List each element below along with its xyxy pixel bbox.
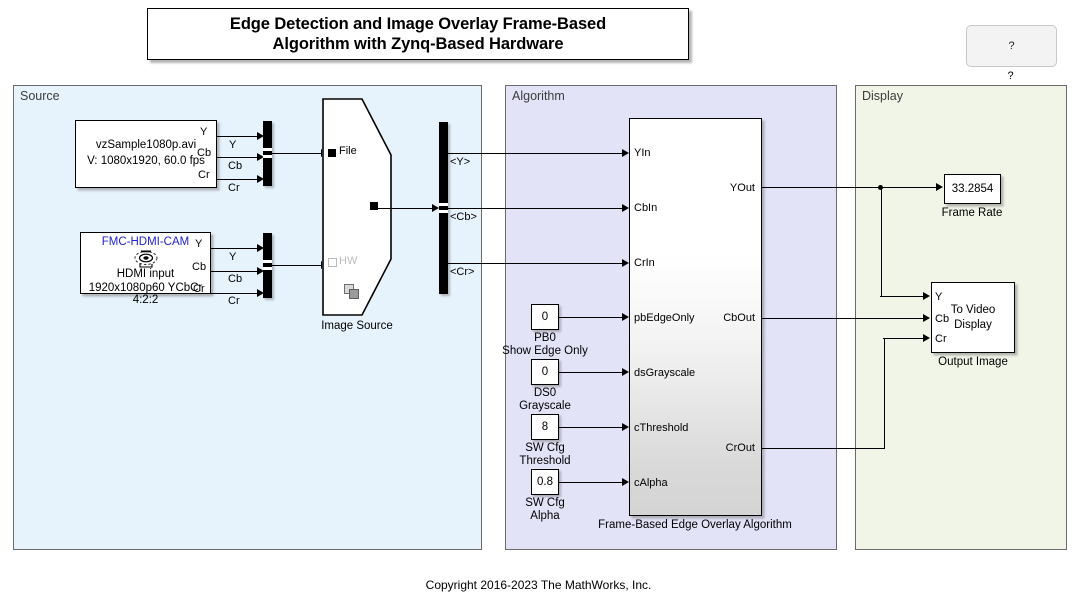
constant-label-threshold-line2: Threshold bbox=[495, 455, 595, 468]
help-button-caption: ? bbox=[966, 70, 1055, 82]
wire-crout-riser bbox=[884, 338, 885, 449]
signal-label-hdmi-y: Y bbox=[229, 251, 236, 263]
arrow-ds0-to-algo bbox=[622, 368, 629, 376]
constant-label-alpha-line1: SW Cfg bbox=[495, 497, 595, 510]
arrow-alpha-to-algo bbox=[622, 478, 629, 486]
title-line-2: Algorithm with Zynq-Based Hardware bbox=[273, 35, 564, 53]
algorithm-block-label: Frame-Based Edge Overlay Algorithm bbox=[595, 519, 795, 532]
arrow-cbout-to-videodisplay-cb bbox=[923, 314, 930, 322]
wire-threshold-to-algo bbox=[559, 427, 625, 428]
simulink-canvas: Edge Detection and Image Overlay Frame-B… bbox=[0, 0, 1077, 606]
algo-input-label-calpha: cAlpha bbox=[634, 477, 668, 489]
wire-bus-cr-to-algo bbox=[448, 263, 625, 264]
frame-rate-display-block[interactable]: 33.2854 bbox=[944, 174, 1001, 204]
wire-bushdmi-to-imagesource bbox=[272, 265, 324, 266]
arrow-pb0-to-algo bbox=[622, 313, 629, 321]
constant-value-pb0: 0 bbox=[542, 311, 548, 323]
wire-pb0-to-algo bbox=[559, 317, 625, 318]
arrow-yout-to-framerate bbox=[936, 183, 943, 191]
image-source-output-port-marker bbox=[370, 202, 378, 210]
algo-input-label-yin: YIn bbox=[634, 147, 651, 159]
to-video-display-label: Output Image bbox=[923, 356, 1023, 369]
constant-value-ds0: 0 bbox=[542, 366, 548, 378]
signal-label-bus-cr: <Cr> bbox=[450, 266, 474, 278]
frame-rate-label: Frame Rate bbox=[922, 207, 1022, 220]
constant-label-threshold-line1: SW Cfg bbox=[495, 442, 595, 455]
file-port-label-cb: Cb bbox=[197, 147, 211, 159]
variant-badge-icon bbox=[344, 284, 358, 298]
algo-input-label-cthreshold: cThreshold bbox=[634, 422, 688, 434]
title-line-1: Edge Detection and Image Overlay Frame-B… bbox=[230, 15, 606, 33]
algo-input-label-dsgrayscale: dsGrayscale bbox=[634, 367, 695, 379]
wire-file-cr bbox=[217, 179, 260, 180]
wire-bus-cb-to-algo bbox=[448, 208, 625, 209]
video-file-source-text: vzSample1080p.avi V: 1080x1920, 60.0 fps bbox=[76, 121, 216, 187]
image-source-hw-label: HW bbox=[339, 255, 357, 267]
constant-label-pb0-line1: PB0 bbox=[495, 332, 595, 345]
wire-yout-branch-down bbox=[881, 187, 882, 296]
wire-imagesource-to-busselector bbox=[378, 208, 436, 209]
wire-hdmi-y bbox=[211, 248, 260, 249]
wire-crout-run bbox=[762, 448, 884, 449]
hdmi-port-label-cr: Cr bbox=[193, 283, 205, 295]
image-source-hw-port-marker bbox=[328, 258, 337, 267]
help-button-label: ? bbox=[1008, 40, 1014, 52]
arrow-crout-to-videodisplay-cr bbox=[923, 334, 930, 342]
wire-hdmi-cr bbox=[211, 293, 260, 294]
signal-label-file-cb: Cb bbox=[228, 160, 242, 172]
to-video-display-line1: To Video bbox=[951, 303, 996, 318]
page-title: Edge Detection and Image Overlay Frame-B… bbox=[230, 14, 606, 55]
arrow-bus-cb-to-algo bbox=[622, 204, 629, 212]
to-video-display-text: To Video Display bbox=[951, 303, 996, 333]
image-source-block[interactable]: File HW bbox=[322, 98, 392, 316]
constant-block-alpha[interactable]: 0.8 bbox=[531, 469, 559, 495]
copyright-text: Copyright 2016-2023 The MathWorks, Inc. bbox=[0, 578, 1077, 592]
constant-label-alpha-line2: Alpha bbox=[495, 510, 595, 523]
arrow-threshold-to-algo bbox=[622, 423, 629, 431]
hdmi-port-label-y: Y bbox=[195, 238, 202, 250]
algo-output-label-cbout: CbOut bbox=[700, 312, 755, 324]
wire-alpha-to-algo bbox=[559, 482, 625, 483]
constant-label-pb0-line2: Show Edge Only bbox=[495, 345, 595, 358]
wire-file-cb bbox=[217, 157, 260, 158]
model-title-annotation: Edge Detection and Image Overlay Frame-B… bbox=[147, 8, 689, 60]
hdmi-block-subtitle: HDMI input bbox=[81, 268, 210, 280]
wire-yout-to-framerate bbox=[762, 187, 941, 188]
bus-creator-file[interactable] bbox=[263, 121, 272, 186]
constant-value-threshold: 8 bbox=[542, 421, 548, 433]
signal-label-bus-y: <Y> bbox=[450, 156, 470, 168]
constant-label-ds0-line1: DS0 bbox=[495, 387, 595, 400]
algo-output-label-yout: YOut bbox=[700, 182, 755, 194]
videodisplay-port-label-cb: Cb bbox=[935, 313, 949, 325]
hdmi-block-title: FMC-HDMI-CAM bbox=[81, 236, 210, 248]
to-video-display-line2: Display bbox=[951, 318, 996, 333]
video-file-source-block[interactable]: vzSample1080p.avi V: 1080x1920, 60.0 fps bbox=[75, 120, 217, 188]
arrow-imagesource-to-busselector bbox=[432, 204, 439, 212]
arrow-bus-cr-to-algo bbox=[622, 259, 629, 267]
algo-input-label-cbin: CbIn bbox=[634, 202, 657, 214]
file-port-label-cr: Cr bbox=[198, 169, 210, 181]
wire-ds0-to-algo bbox=[559, 372, 625, 373]
algo-output-label-crout: CrOut bbox=[700, 442, 755, 454]
area-label-algorithm: Algorithm bbox=[512, 89, 565, 103]
wire-cbout-to-videodisplay-cb bbox=[762, 318, 925, 319]
constant-value-alpha: 0.8 bbox=[537, 476, 553, 488]
videodisplay-port-label-y: Y bbox=[935, 291, 942, 303]
file-port-label-y: Y bbox=[200, 126, 207, 138]
constant-block-pb0[interactable]: 0 bbox=[531, 304, 559, 330]
signal-label-file-y: Y bbox=[229, 139, 236, 151]
wire-busfile-to-imagesource bbox=[272, 153, 324, 154]
bus-creator-hdmi[interactable] bbox=[263, 233, 272, 298]
wire-crout-to-videodisplay-cr bbox=[883, 338, 925, 339]
constant-block-threshold[interactable]: 8 bbox=[531, 414, 559, 440]
wire-file-y bbox=[217, 136, 260, 137]
wire-bus-y-to-algo bbox=[448, 153, 625, 154]
constant-label-ds0-line2: Grayscale bbox=[495, 400, 595, 413]
hdmi-block-format: 1920x1080p60 YCbCr 4:2:2 bbox=[81, 282, 210, 306]
image-source-file-port-marker bbox=[328, 149, 336, 157]
arrow-yout-to-videodisplay-y bbox=[923, 292, 930, 300]
hdmi-port-label-cb: Cb bbox=[192, 261, 206, 273]
signal-label-hdmi-cb: Cb bbox=[228, 273, 242, 285]
image-source-file-label: File bbox=[339, 145, 357, 157]
signal-label-hdmi-cr: Cr bbox=[228, 295, 240, 307]
signal-label-bus-cb: <Cb> bbox=[450, 211, 477, 223]
constant-block-ds0[interactable]: 0 bbox=[531, 359, 559, 385]
image-source-label: Image Source bbox=[282, 320, 432, 333]
arrow-bus-y-to-algo bbox=[622, 149, 629, 157]
video-file-name: vzSample1080p.avi bbox=[96, 138, 196, 154]
wire-yout-to-videodisplay-y bbox=[880, 296, 925, 297]
algo-input-label-crin: CrIn bbox=[634, 257, 655, 269]
video-file-format: V: 1080x1920, 60.0 fps bbox=[87, 154, 205, 170]
help-button[interactable]: ? bbox=[966, 25, 1057, 67]
algo-input-label-pbedgeonly: pbEdgeOnly bbox=[634, 312, 695, 324]
area-label-display: Display bbox=[862, 89, 903, 103]
signal-label-file-cr: Cr bbox=[228, 182, 240, 194]
bus-selector[interactable] bbox=[439, 122, 448, 294]
area-label-source: Source bbox=[20, 89, 60, 103]
videodisplay-port-label-cr: Cr bbox=[935, 333, 947, 345]
wire-hdmi-cb bbox=[211, 271, 260, 272]
frame-rate-value: 33.2854 bbox=[952, 183, 994, 195]
